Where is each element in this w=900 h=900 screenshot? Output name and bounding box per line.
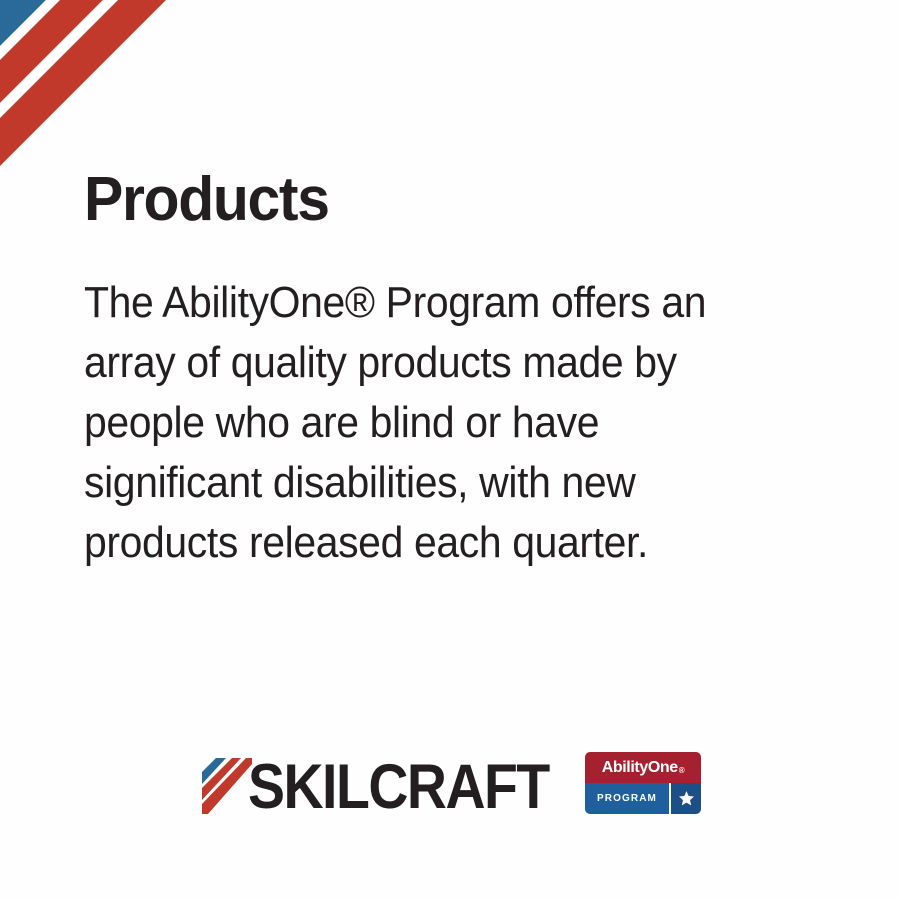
product-info-card: Products The AbilityOne® Program offers … bbox=[0, 0, 900, 900]
abilityone-star-block bbox=[671, 783, 701, 814]
corner-stripe-red-1 bbox=[0, 0, 103, 103]
body-paragraph: The AbilityOne® Program offers an array … bbox=[84, 231, 754, 572]
footer-logo-row: SKILCRAFT AbilityOne ® PROGRAM bbox=[0, 742, 900, 832]
corner-stripe-gap-1 bbox=[0, 0, 60, 60]
star-icon bbox=[678, 790, 695, 807]
corner-stripe-blue bbox=[0, 0, 46, 46]
registered-mark-icon: ® bbox=[679, 767, 685, 775]
abilityone-logo: AbilityOne ® PROGRAM bbox=[585, 752, 701, 814]
abilityone-brand-block: AbilityOne ® bbox=[585, 752, 701, 783]
corner-stripe-red-2 bbox=[0, 0, 166, 166]
skilcraft-logo: SKILCRAFT bbox=[196, 748, 552, 820]
page-title: Products bbox=[84, 168, 749, 231]
abilityone-program-row: PROGRAM bbox=[585, 783, 701, 814]
corner-stripe-gap-2 bbox=[0, 0, 118, 118]
skilcraft-slash-mark bbox=[196, 758, 252, 820]
skilcraft-wordmark: SKILCRAFT bbox=[248, 755, 549, 818]
card-content: Products The AbilityOne® Program offers … bbox=[84, 168, 784, 572]
abilityone-brand-label: AbilityOne ® bbox=[602, 760, 685, 776]
abilityone-brand-text: AbilityOne bbox=[602, 760, 678, 776]
abilityone-program-label: PROGRAM bbox=[597, 794, 657, 804]
abilityone-program-block: PROGRAM bbox=[585, 783, 669, 814]
